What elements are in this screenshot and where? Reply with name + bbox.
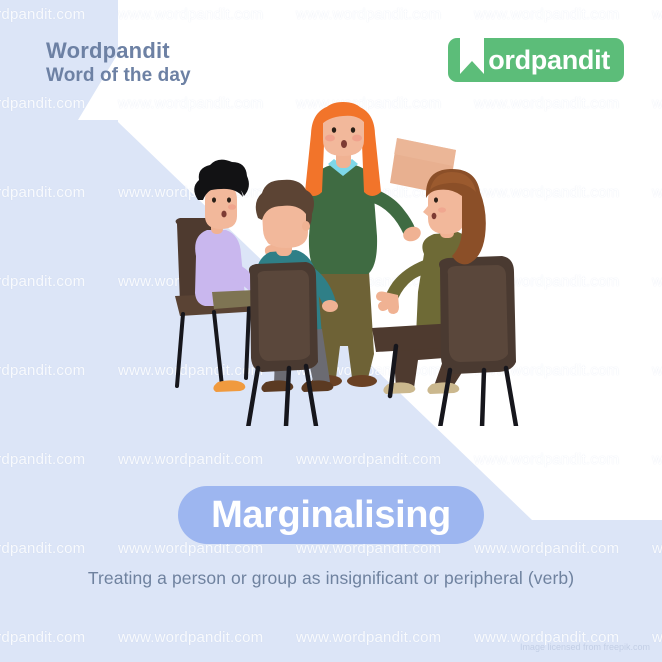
logo-text: ordpandit — [488, 47, 610, 74]
bookmark-w-icon — [460, 28, 484, 74]
watermark-text: www.wordpandit.com — [474, 540, 619, 557]
watermark-text: www.wordpandit.com — [118, 629, 263, 646]
group-discussion-illustration — [0, 96, 662, 426]
watermark-text: www.wordpandit.com — [296, 629, 441, 646]
word-definition: Treating a person or group as insignific… — [0, 568, 662, 589]
word-badge: Marginalising — [178, 486, 484, 544]
brand-title: Wordpandit — [46, 38, 191, 63]
watermark-text: www.wordpandit.com — [0, 6, 85, 23]
brand-block: Wordpandit Word of the day — [46, 38, 191, 88]
watermark-text: www.wordpandit.com — [296, 451, 441, 468]
watermark-text: www.wordpandit.com — [0, 629, 85, 646]
wordpandit-logo[interactable]: ordpandit — [448, 38, 624, 82]
brand-subtitle: Word of the day — [46, 65, 191, 88]
image-credit: Image licensed from freepik.com — [520, 642, 650, 652]
watermark-text: www.wordpandit.com — [0, 451, 85, 468]
watermark-text: www.wordpandit.com — [118, 451, 263, 468]
watermark-text: www.wordpandit.com — [0, 540, 85, 557]
word-of-the-day-card: www.wordpandit.comwww.wordpandit.comwww.… — [0, 0, 662, 662]
watermark-text: www.wordpandit.com — [652, 540, 662, 557]
word-term: Marginalising — [211, 496, 451, 534]
watermark-text: www.wordpandit.com — [652, 629, 662, 646]
